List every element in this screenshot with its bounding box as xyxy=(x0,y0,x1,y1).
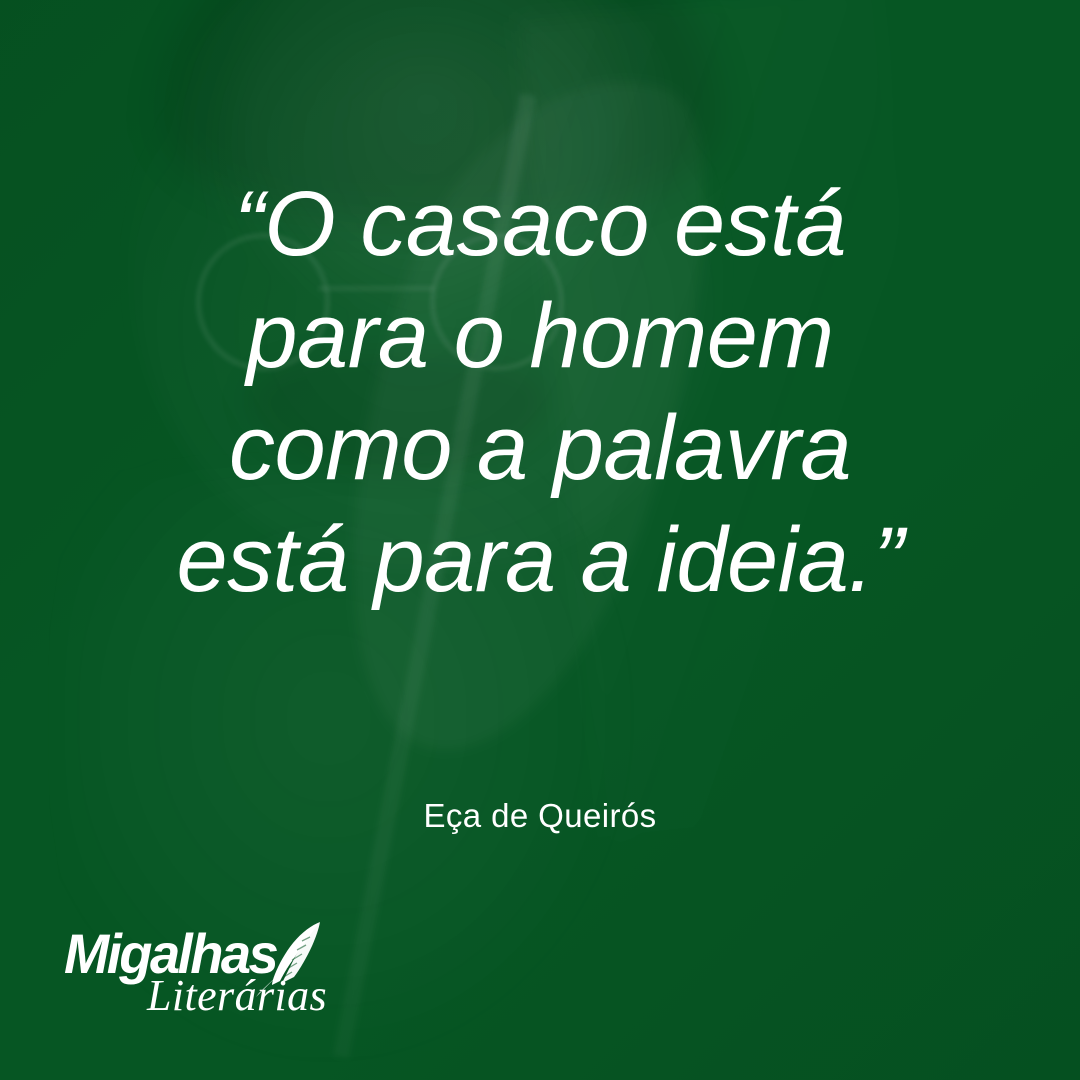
quote-line-1: “O casaco está xyxy=(60,168,1020,280)
migalhas-literarias-logo[interactable]: Migalhas Literárias xyxy=(64,925,334,1030)
quote-line-3: como a palavra xyxy=(60,392,1020,504)
quill-feather-icon xyxy=(250,919,324,997)
quote-line-2: para o homem xyxy=(60,280,1020,392)
quote-text-block: “O casaco está para o homem como a palav… xyxy=(0,168,1080,616)
quote-card: “O casaco está para o homem como a palav… xyxy=(0,0,1080,1080)
quote-author: Eça de Queirós xyxy=(0,797,1080,835)
quote-line-4: está para a ideia.” xyxy=(60,504,1020,616)
card-content: “O casaco está para o homem como a palav… xyxy=(0,0,1080,1080)
